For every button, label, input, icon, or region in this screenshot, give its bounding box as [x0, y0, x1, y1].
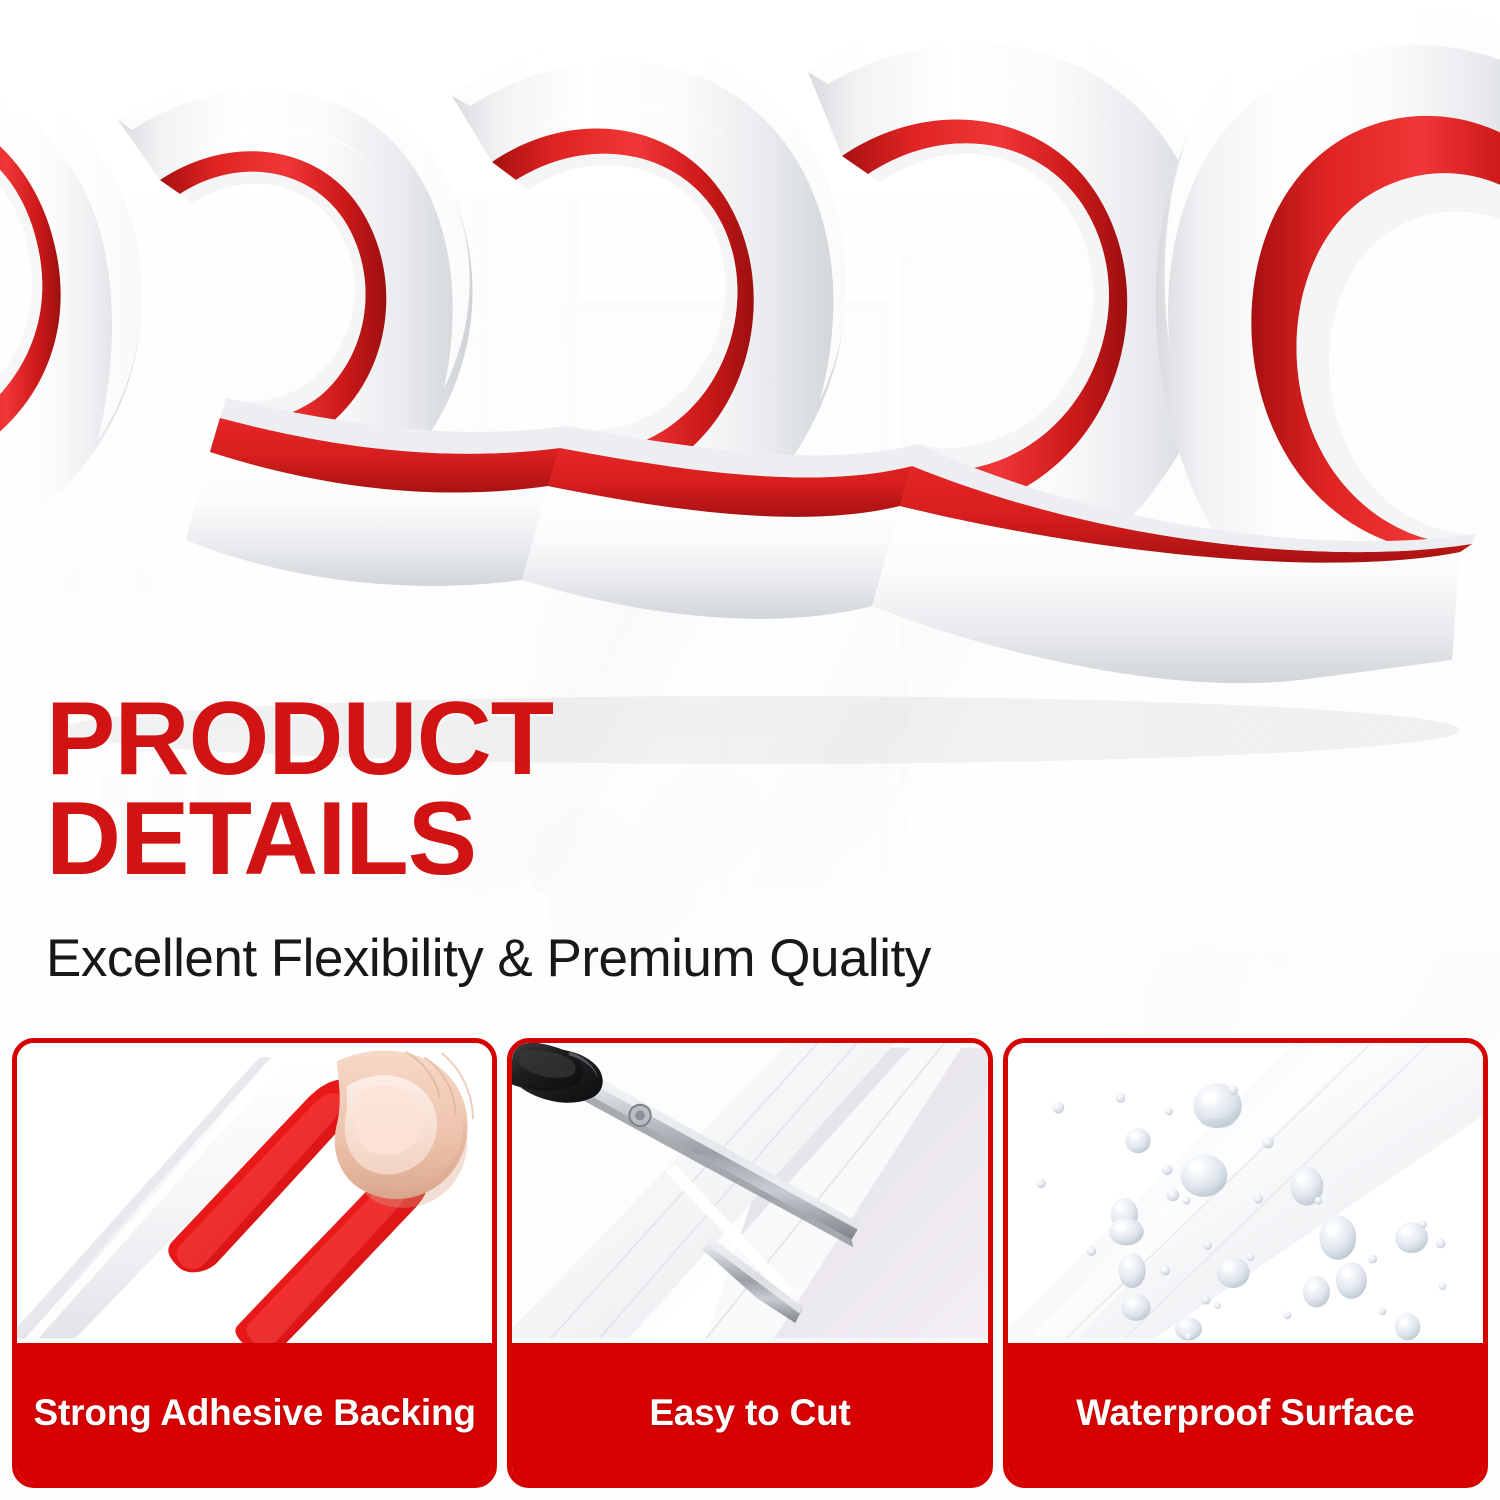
feature-panel-cut[interactable]: Easy to Cut [507, 1038, 992, 1488]
product-details-infographic: PRODUCT DETAILS Excellent Flexibility & … [0, 0, 1500, 1500]
hero-coiled-tape-image [0, 0, 1500, 800]
tape-coil-1 [0, 60, 142, 560]
feature-panel-adhesive[interactable]: Strong Adhesive Backing [12, 1038, 497, 1488]
panel-caption-cut: Easy to Cut [512, 1343, 987, 1483]
page-subtitle: Excellent Flexibility & Premium Quality [46, 928, 1226, 989]
water-droplets-photo [1008, 1043, 1483, 1343]
scissors-cutting-tape-photo [512, 1043, 987, 1343]
feature-panel-waterproof[interactable]: Waterproof Surface [1003, 1038, 1488, 1488]
feature-panels: Strong Adhesive Backing [12, 1038, 1488, 1488]
page-title: PRODUCT DETAILS [46, 690, 1226, 890]
headline-block: PRODUCT DETAILS Excellent Flexibility & … [46, 690, 1226, 989]
panel-caption-waterproof: Waterproof Surface [1008, 1343, 1483, 1483]
peel-adhesive-liner-photo [17, 1043, 492, 1343]
panel-caption-adhesive: Strong Adhesive Backing [17, 1343, 492, 1483]
